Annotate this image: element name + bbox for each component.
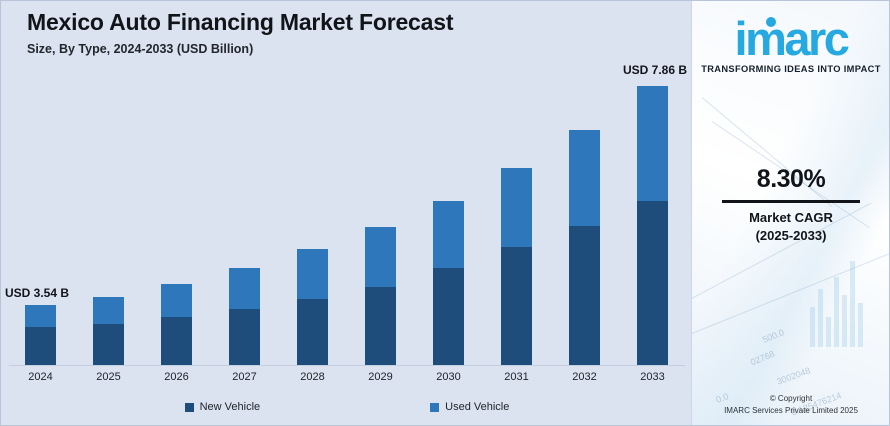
bar-group <box>569 130 600 365</box>
legend-label: New Vehicle <box>200 401 261 413</box>
bar-segment-new-vehicle <box>297 299 328 365</box>
x-tick-label: 2033 <box>623 371 683 383</box>
bar-segment-used-vehicle <box>25 305 56 327</box>
bar-group <box>365 227 396 365</box>
chart-legend: New VehicleUsed Vehicle <box>1 397 693 417</box>
plot-area: 2024202520262027202820292030203120322033 <box>1 1 693 425</box>
cagr-period: (2025-2033) <box>692 227 889 245</box>
bar-segment-used-vehicle <box>637 86 668 201</box>
x-tick-label: 2029 <box>351 371 411 383</box>
bar-group <box>93 297 124 365</box>
copyright-line-2: IMARC Services Private Limited 2025 <box>692 405 889 417</box>
decorative-bar <box>818 289 823 347</box>
logo-wordmark: imarc <box>735 15 848 63</box>
bar-segment-new-vehicle <box>365 287 396 365</box>
x-tick-label: 2024 <box>11 371 71 383</box>
bar-segment-new-vehicle <box>637 201 668 365</box>
decorative-bar <box>842 295 847 347</box>
logo-tagline: TRANSFORMING IDEAS INTO IMPACT <box>692 64 889 74</box>
bar-segment-used-vehicle <box>365 227 396 287</box>
bar-segment-new-vehicle <box>569 226 600 365</box>
x-tick-label: 2031 <box>487 371 547 383</box>
logo-dot-icon <box>766 17 776 27</box>
bar-group <box>637 86 668 365</box>
cagr-value: 8.30% <box>692 165 889 194</box>
copyright-line-1: © Copyright <box>692 393 889 405</box>
legend-swatch-icon <box>185 403 194 412</box>
x-tick-label: 2030 <box>419 371 479 383</box>
decorative-bar <box>826 317 831 347</box>
legend-item[interactable]: Used Vehicle <box>430 401 509 413</box>
bar-group <box>433 201 464 365</box>
bar-segment-used-vehicle <box>501 168 532 247</box>
cagr-divider <box>722 200 860 203</box>
bar-segment-new-vehicle <box>501 247 532 365</box>
imarc-logo: imarc TRANSFORMING IDEAS INTO IMPACT <box>692 15 889 74</box>
bar-segment-new-vehicle <box>25 327 56 365</box>
value-callout-last: USD 7.86 B <box>623 63 687 77</box>
x-tick-label: 2026 <box>147 371 207 383</box>
bar-group <box>501 168 532 365</box>
bar-segment-used-vehicle <box>297 249 328 299</box>
bar-segment-used-vehicle <box>433 201 464 268</box>
x-tick-label: 2028 <box>283 371 343 383</box>
x-tick-label: 2032 <box>555 371 615 383</box>
bar-segment-used-vehicle <box>93 297 124 324</box>
cagr-label: Market CAGR <box>692 209 889 227</box>
x-tick-label: 2027 <box>215 371 275 383</box>
decorative-bar <box>834 277 839 347</box>
decorative-bar <box>850 261 855 347</box>
legend-swatch-icon <box>430 403 439 412</box>
brand-panel: 500.00.00.125476214027683002048 imarc TR… <box>691 1 889 425</box>
x-tick-label: 2025 <box>79 371 139 383</box>
bar-segment-used-vehicle <box>161 284 192 317</box>
bar-group <box>25 305 56 365</box>
bar-segment-new-vehicle <box>433 268 464 365</box>
legend-label: Used Vehicle <box>445 401 509 413</box>
chart-infographic: Mexico Auto Financing Market Forecast Si… <box>0 0 890 426</box>
bar-segment-new-vehicle <box>229 309 260 365</box>
bar-segment-new-vehicle <box>93 324 124 365</box>
legend-item[interactable]: New Vehicle <box>185 401 261 413</box>
bar-group <box>161 284 192 365</box>
copyright-notice: © Copyright IMARC Services Private Limit… <box>692 393 889 417</box>
bar-group <box>229 268 260 365</box>
chart-panel: Mexico Auto Financing Market Forecast Si… <box>1 1 693 425</box>
x-axis-line <box>9 365 685 366</box>
value-callout-first: USD 3.54 B <box>5 286 69 300</box>
cagr-block: 8.30% Market CAGR (2025-2033) <box>692 165 889 245</box>
bar-segment-used-vehicle <box>229 268 260 309</box>
bar-segment-new-vehicle <box>161 317 192 365</box>
bar-group <box>297 249 328 365</box>
decorative-bar <box>858 303 863 347</box>
decorative-bar <box>810 307 815 347</box>
bar-segment-used-vehicle <box>569 130 600 226</box>
